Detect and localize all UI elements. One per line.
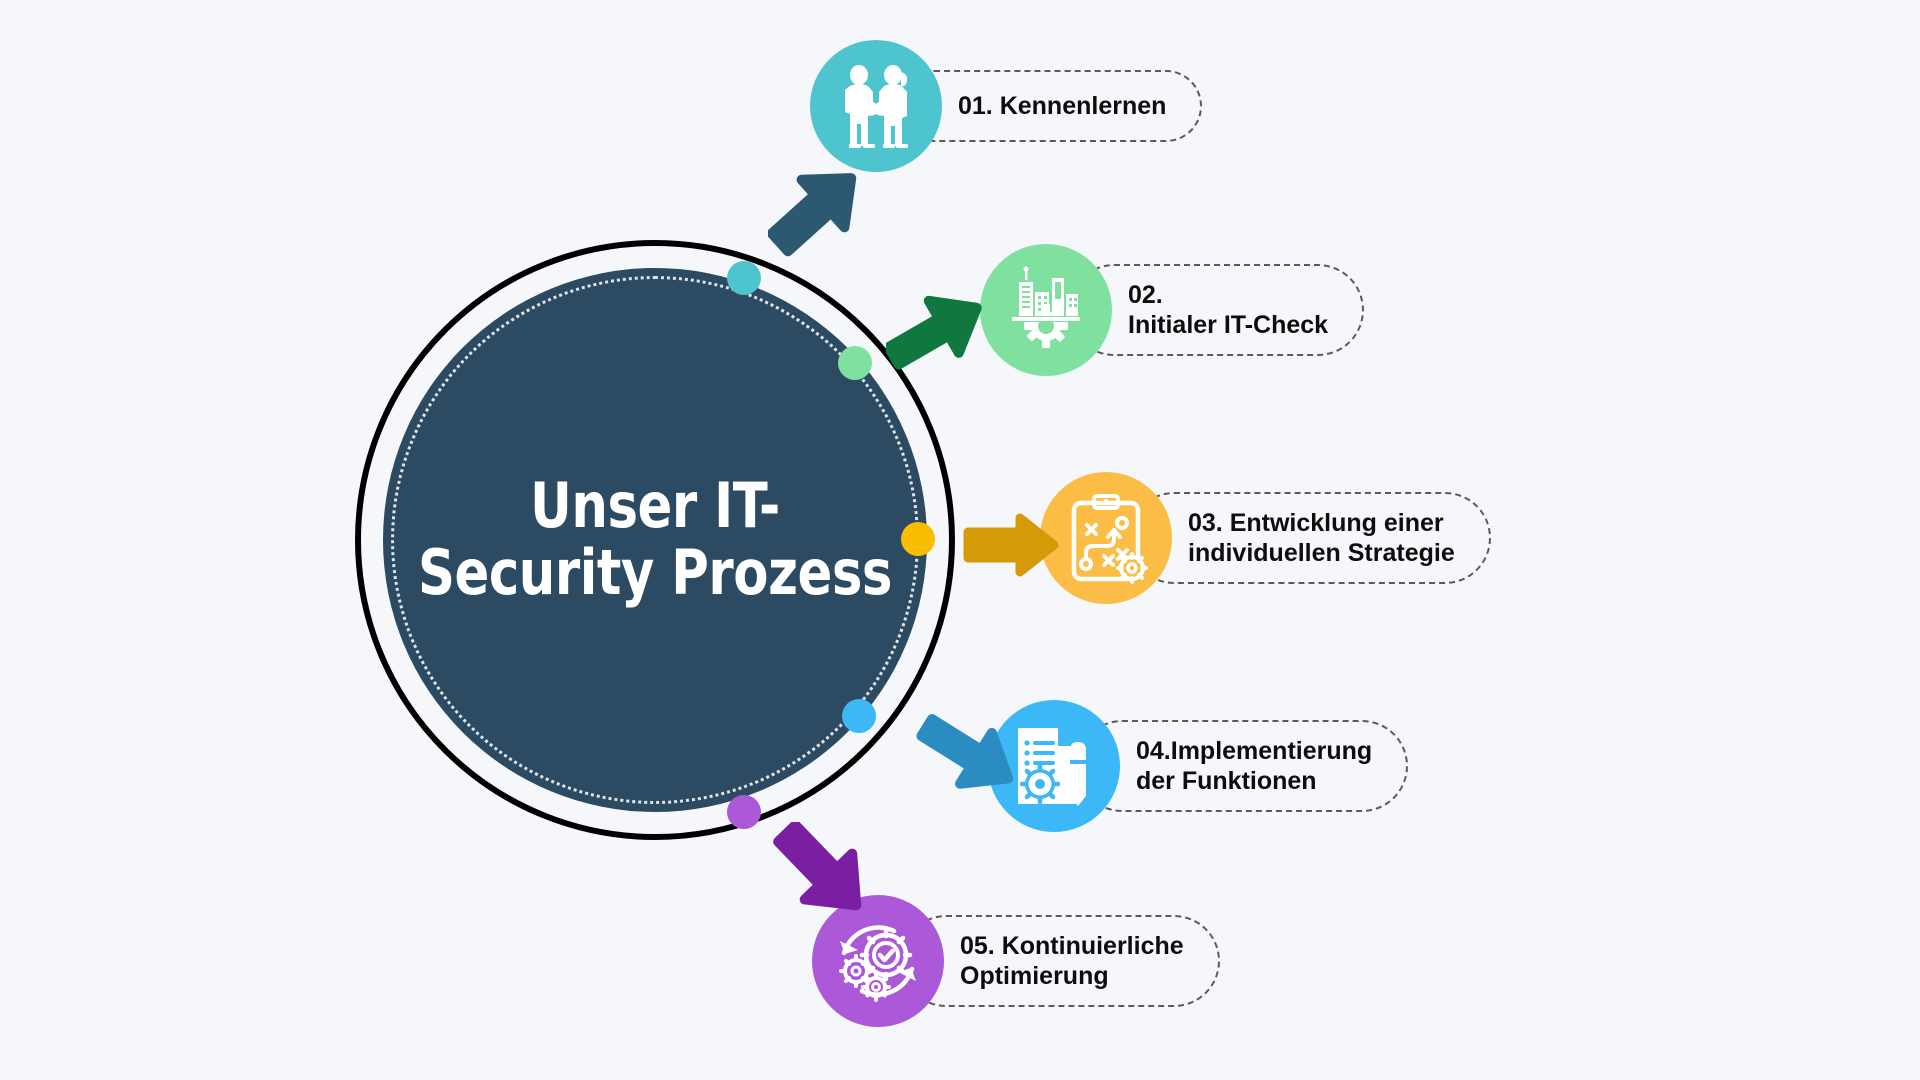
step-2-icon-circle	[980, 244, 1112, 376]
step-3-label-pill[interactable]: 03. Entwicklung einer individuellen Stra…	[1128, 492, 1491, 584]
step-item-3[interactable]: 03. Entwicklung einer individuellen Stra…	[1040, 472, 1491, 604]
ring-dot-step-3[interactable]	[901, 522, 935, 556]
city-gear-icon	[1000, 264, 1092, 356]
step-5-label-pill[interactable]: 05. Kontinuierliche Optimierung	[900, 915, 1220, 1007]
step-3-label: 03. Entwicklung einer individuellen Stra…	[1188, 508, 1455, 568]
ring-dot-step-4[interactable]	[842, 699, 876, 733]
arrow-step-1	[768, 165, 878, 270]
clipboard-strategy-icon	[1060, 492, 1152, 584]
arrow-step-3	[962, 510, 1062, 580]
ring-dot-step-2[interactable]	[838, 346, 872, 380]
central-hub: Unser IT-Security Prozess	[355, 240, 955, 840]
ring-dot-step-5[interactable]	[727, 795, 761, 829]
step-1-label: 01. Kennenlernen	[958, 91, 1166, 121]
step-4-label: 04.Implementierung der Funktionen	[1136, 736, 1372, 796]
arrow-step-5	[758, 822, 873, 932]
step-1-label-pill[interactable]: 01. Kennenlernen	[898, 70, 1202, 142]
step-item-2[interactable]: 02. Initialer IT-Check	[980, 244, 1364, 376]
document-gear-pencil-icon	[1008, 720, 1100, 812]
arrow-step-4	[908, 712, 1018, 812]
step-2-label: 02. Initialer IT-Check	[1128, 280, 1328, 340]
step-item-5[interactable]: 05. Kontinuierliche Optimierung	[812, 895, 1220, 1027]
step-4-label-pill[interactable]: 04.Implementierung der Funktionen	[1076, 720, 1408, 812]
step-2-label-pill[interactable]: 02. Initialer IT-Check	[1068, 264, 1364, 356]
handshake-icon	[830, 60, 922, 152]
hub-title: Unser IT-Security Prozess	[416, 240, 894, 840]
step-5-label: 05. Kontinuierliche Optimierung	[960, 931, 1184, 991]
ring-dot-step-1[interactable]	[727, 261, 761, 295]
step-item-1[interactable]: 01. Kennenlernen	[810, 40, 1202, 172]
step-1-icon-circle	[810, 40, 942, 172]
infographic-canvas: Unser IT-Security Prozess	[0, 0, 1920, 1080]
arrow-step-2	[886, 290, 996, 390]
step-item-4[interactable]: 04.Implementierung der Funktionen	[988, 700, 1408, 832]
